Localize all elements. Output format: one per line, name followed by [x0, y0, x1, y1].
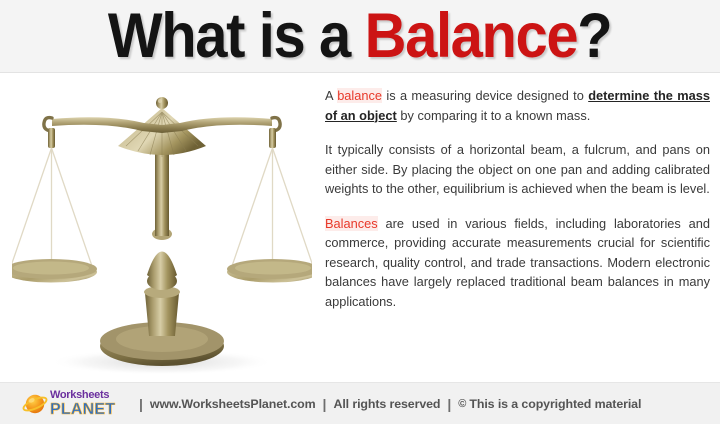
scale-hanger-left: [48, 128, 55, 148]
scale-hanger-right: [269, 128, 276, 148]
footer-separator-1: |: [139, 397, 143, 411]
page-title-question-mark: ?: [578, 1, 612, 71]
run-text: by comparing it to a known mass.: [397, 108, 590, 123]
footer-credits: | www.WorksheetsPlanet.com | All rights …: [132, 397, 641, 411]
scale-baluster: [147, 252, 177, 282]
scale-strings-left: [12, 148, 93, 269]
scale-pan-left-highlight: [13, 262, 89, 275]
footer-separator-2: |: [323, 397, 327, 411]
run-text: A: [325, 88, 337, 103]
page-title: What is a Balance?: [0, 0, 720, 72]
scale-finial: [156, 97, 168, 109]
keyword-balances: Balances: [325, 216, 378, 231]
copyright-icon: ©: [458, 398, 466, 410]
page-title-keyword: Balance: [365, 1, 578, 71]
scale-finial-highlight: [158, 99, 162, 103]
footer-website[interactable]: www.WorksheetsPlanet.com: [150, 397, 316, 411]
paragraph-construction: It typically consists of a horizontal be…: [325, 140, 710, 199]
footer-bar: Worksheets PLANET | www.WorksheetsPlanet…: [0, 382, 720, 424]
scale-strings-right: [231, 148, 312, 269]
scale-pan-right-highlight: [235, 262, 311, 275]
paragraph-applications: Balances are used in various fields, inc…: [325, 214, 710, 312]
worksheets-planet-logo[interactable]: Worksheets PLANET: [22, 390, 126, 418]
logo-line-planet: PLANET: [50, 402, 115, 418]
run-text: It typically consists of a horizontal be…: [325, 142, 710, 196]
keyword-balance: balance: [337, 88, 382, 103]
footer-copyright-notice: This is a copyrighted material: [469, 397, 641, 411]
logo-line-worksheets: Worksheets: [50, 390, 115, 401]
definition-text-column: A balance is a measuring device designed…: [325, 86, 710, 311]
footer-rights: All rights reserved: [333, 397, 440, 411]
paragraph-definition: A balance is a measuring device designed…: [325, 86, 710, 125]
footer-separator-3: |: [447, 397, 451, 411]
run-text: is a measuring device designed to: [382, 88, 588, 103]
run-text: are used in various fields, including la…: [325, 216, 710, 309]
balance-scale-svg: [12, 78, 312, 378]
page-title-part-1: What is a: [108, 1, 365, 71]
scale-pedestal: [145, 293, 179, 336]
balance-scale-illustration: [12, 78, 312, 378]
planet-icon: [22, 392, 48, 416]
